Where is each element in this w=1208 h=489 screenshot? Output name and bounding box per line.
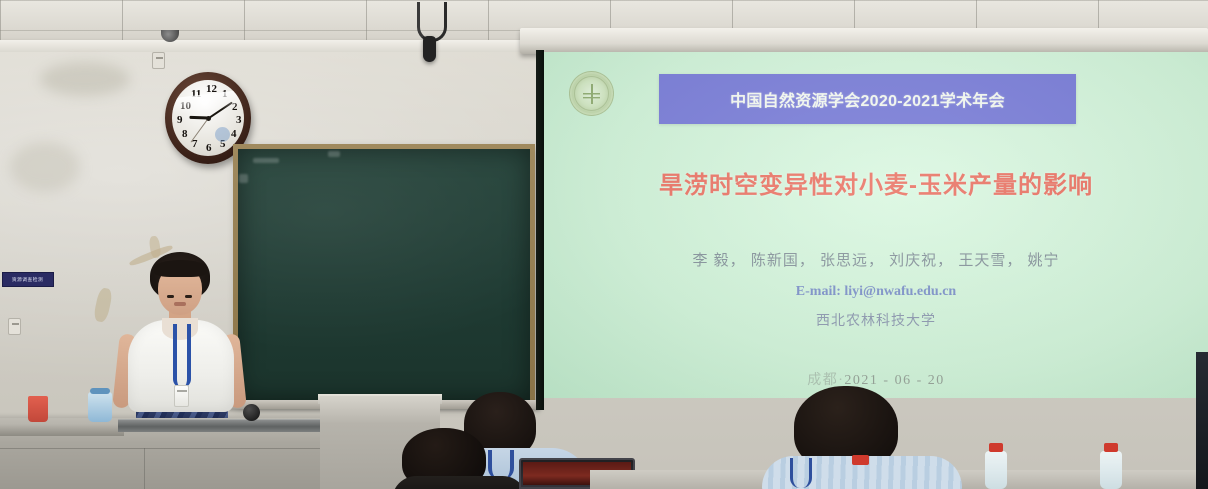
clock-center-pin	[206, 116, 211, 121]
clock-numeral: 6	[206, 142, 212, 154]
side-monitor	[1196, 352, 1208, 489]
presenter-eye	[167, 295, 174, 298]
presenter-mouth	[174, 302, 186, 306]
conference-room-photo: 资源调查检测 12 1 2 3 4 5 6 7 8 9 10 11	[0, 0, 1208, 489]
chalk-smudge	[239, 174, 248, 183]
screen-left-border	[536, 50, 544, 410]
presenter	[118, 252, 244, 432]
wall-sign-plaque: 资源调查检测	[2, 272, 54, 287]
desk-seam	[144, 448, 145, 489]
clock-numeral: 4	[231, 128, 237, 140]
microphone-icon[interactable]	[243, 404, 260, 421]
chalk-smudge	[328, 151, 340, 157]
list-item	[762, 386, 962, 489]
list-item	[392, 428, 527, 489]
bottle-cap	[1104, 443, 1118, 452]
water-bottle[interactable]	[985, 451, 1007, 489]
slide-affiliation: 西北农林科技大学	[544, 310, 1208, 330]
red-cup[interactable]	[28, 396, 48, 422]
slide-banner: 中国自然资源学会2020-2021学术年会	[659, 74, 1076, 124]
clock-numeral: 9	[177, 114, 183, 126]
blackboard	[233, 144, 535, 405]
desk-seam	[0, 448, 326, 449]
bottle-cap	[989, 443, 1003, 452]
clock-second-hand	[190, 118, 208, 143]
wall-socket[interactable]	[152, 52, 165, 69]
clock-subdial	[215, 127, 230, 142]
desk-top-ledge	[0, 424, 124, 436]
slide-banner-text: 中国自然资源学会2020-2021学术年会	[730, 87, 1005, 111]
lanyard	[173, 324, 191, 388]
society-emblem-logo	[569, 71, 614, 116]
blackboard-surface	[238, 149, 530, 400]
bottle-cap	[852, 455, 869, 465]
water-bottle[interactable]	[1100, 451, 1122, 489]
wall-sign-label: 资源调查检测	[12, 276, 43, 283]
wall-socket[interactable]	[8, 318, 21, 335]
attendee-torso	[392, 476, 527, 489]
projection-screen: 中国自然资源学会2020-2021学术年会 旱涝时空变异性对小麦-玉米产量的影响…	[544, 52, 1208, 398]
projector-screen-housing	[520, 28, 1208, 54]
slide-email: E-mail: liyi@nwafu.edu.cn	[544, 284, 1208, 300]
ceiling-camera-icon	[423, 36, 436, 62]
slide-author-list: 李 毅， 陈新国， 张思远， 刘庆祝， 王天雪， 姚宁	[544, 249, 1208, 270]
desk-metal-rail	[118, 419, 333, 432]
presenter-bangs	[154, 260, 207, 277]
clock-numeral: 3	[236, 114, 242, 126]
chalk-smudge	[253, 158, 279, 163]
wheat-leaf-icon	[583, 84, 600, 104]
lanyard	[790, 458, 812, 488]
blue-cup[interactable]	[88, 392, 112, 422]
badge-card	[174, 385, 189, 407]
wall-stain	[10, 142, 80, 192]
slide-title: 旱涝时空变异性对小麦-玉米产量的影响	[544, 165, 1208, 200]
presenter-eye	[185, 295, 192, 298]
clock-numeral: 8	[182, 128, 188, 140]
wall-stain	[40, 62, 130, 96]
